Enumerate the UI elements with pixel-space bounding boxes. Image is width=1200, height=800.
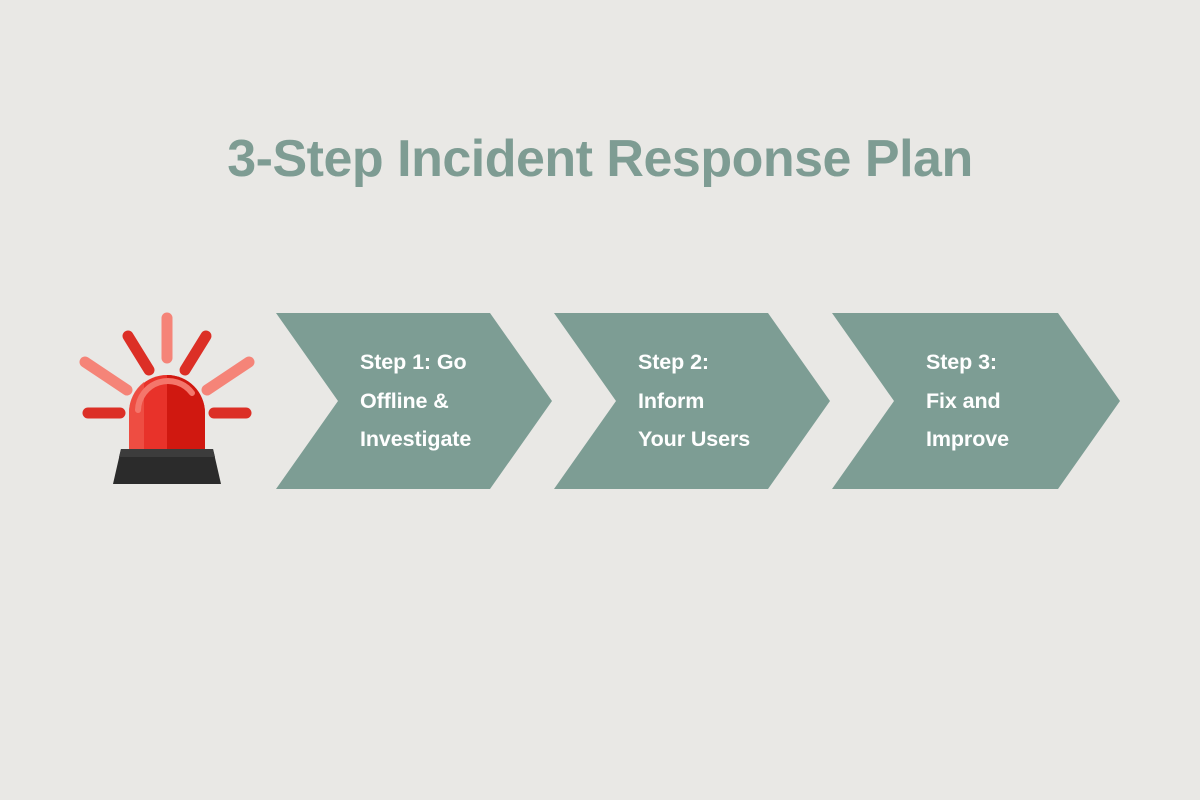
infographic-canvas: 3-Step Incident Response Plan: [0, 0, 1200, 800]
flow-step-1-label: Step 1: Go Offline & Investigate: [360, 313, 520, 489]
flow-step-2-line-3: Your Users: [638, 420, 798, 459]
flow-step-3-label: Step 3: Fix and Improve: [926, 313, 1086, 489]
flow-step-3-line-3: Improve: [926, 420, 1086, 459]
flow-step-1-line-2: Offline &: [360, 382, 520, 421]
page-title: 3-Step Incident Response Plan: [0, 131, 1200, 188]
flow-step-2-label: Step 2: Inform Your Users: [638, 313, 798, 489]
flow-step-2-line-1: Step 2:: [638, 343, 798, 382]
flow-step-3-line-1: Step 3:: [926, 343, 1086, 382]
flow-step-3-line-2: Fix and: [926, 382, 1086, 421]
flow-step-1[interactable]: Step 1: Go Offline & Investigate: [276, 313, 552, 489]
step-flow: Step 1: Go Offline & Investigate Step 2:…: [0, 313, 1200, 489]
flow-step-1-line-1: Step 1: Go: [360, 343, 520, 382]
flow-step-2-line-2: Inform: [638, 382, 798, 421]
flow-step-3[interactable]: Step 3: Fix and Improve: [832, 313, 1120, 489]
flow-step-2[interactable]: Step 2: Inform Your Users: [554, 313, 830, 489]
flow-step-1-line-3: Investigate: [360, 420, 520, 459]
